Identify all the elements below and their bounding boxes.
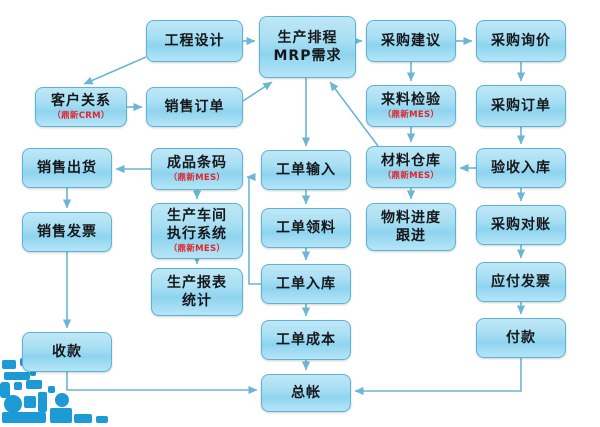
node-label: 销售出货 [37,160,97,177]
node-purchase-reconciliation[interactable]: 采购对账 [476,205,566,245]
node-label: 材料仓库 [381,153,441,170]
node-label: 应付发票 [491,274,551,291]
node-sales-order[interactable]: 销售订单 [146,87,243,127]
node-general-ledger[interactable]: 总帐 [261,374,351,412]
node-material-warehouse-mes[interactable]: 材料仓库（鼎新MES） [366,146,456,188]
node-label: 工程设计 [165,33,225,50]
node-accounts-payable-invoice[interactable]: 应付发票 [476,262,566,302]
node-label: 工单入库 [276,276,336,293]
node-sublabel: （鼎新CRM） [52,111,109,122]
node-label: 工单成本 [276,332,336,349]
node-incoming-inspection-mes[interactable]: 来料检验（鼎新MES） [366,85,456,127]
node-label: 采购建议 [381,33,441,50]
node-label: 总帐 [291,385,321,402]
edge-payment-to-general-ledger [355,358,521,391]
node-label: 客户关系 [51,93,111,110]
node-label: 生产报表 统计 [167,274,227,310]
node-work-order-storage[interactable]: 工单入库 [261,264,351,304]
node-purchase-order[interactable]: 采购订单 [476,85,566,127]
node-workshop-execution-mes[interactable]: 生产车间 执行系统（鼎新MES） [151,203,243,259]
node-label: 物料进度 跟进 [381,209,441,245]
node-label: 验收入库 [491,160,551,177]
node-label: 付款 [506,330,536,347]
edge-storage-to-barcode [247,177,261,284]
edge-engineering-design-to-crm [84,57,146,84]
node-label: 采购对账 [491,217,551,234]
node-work-order-cost[interactable]: 工单成本 [261,320,351,360]
node-label: 销售订单 [165,99,225,116]
node-sales-shipment[interactable]: 销售出货 [22,148,112,188]
node-material-progress-tracking[interactable]: 物料进度 跟进 [366,203,456,251]
node-label: 采购订单 [491,98,551,115]
node-work-order-picking[interactable]: 工单领料 [261,208,351,248]
node-engineering-design[interactable]: 工程设计 [146,20,243,62]
node-finished-goods-barcode-mes[interactable]: 成品条码（鼎新MES） [151,148,243,190]
node-production-report-statistics[interactable]: 生产报表 统计 [151,268,243,316]
node-label: 来料检验 [381,92,441,109]
node-label: 采购询价 [491,33,551,50]
node-work-order-input[interactable]: 工单输入 [261,150,351,190]
node-label: 成品条码 [167,155,227,172]
node-label: 生产车间 执行系统 [167,207,227,243]
node-label: 工单输入 [276,162,336,179]
node-sublabel: （鼎新MES） [383,110,440,121]
node-purchase-inquiry[interactable]: 采购询价 [476,20,566,62]
node-customer-relations-crm[interactable]: 客户关系（鼎新CRM） [35,87,127,127]
node-label: 销售发票 [37,224,97,241]
edge-sales-order-to-mrp [243,82,272,101]
node-purchase-suggestion[interactable]: 采购建议 [366,20,456,62]
node-label: 工单领料 [276,220,336,237]
node-sales-invoice[interactable]: 销售发票 [22,212,112,252]
node-acceptance-storage[interactable]: 验收入库 [476,148,566,188]
node-production-schedule-mrp[interactable]: 生产排程 MRP需求 [259,16,356,78]
node-sublabel: （鼎新MES） [169,173,226,184]
node-receipt-collection[interactable]: 收款 [22,332,112,372]
node-label: 生产排程 MRP需求 [274,29,342,65]
node-sublabel: （鼎新MES） [383,171,440,182]
flowchart-canvas: 总帐收款付款工单成本应付发票工单入库生产报表 统计销售发票采购对账物料进度 跟进… [0,0,600,427]
node-label: 收款 [52,344,82,361]
node-sublabel: （鼎新MES） [169,244,226,255]
node-payment-out[interactable]: 付款 [476,318,566,358]
